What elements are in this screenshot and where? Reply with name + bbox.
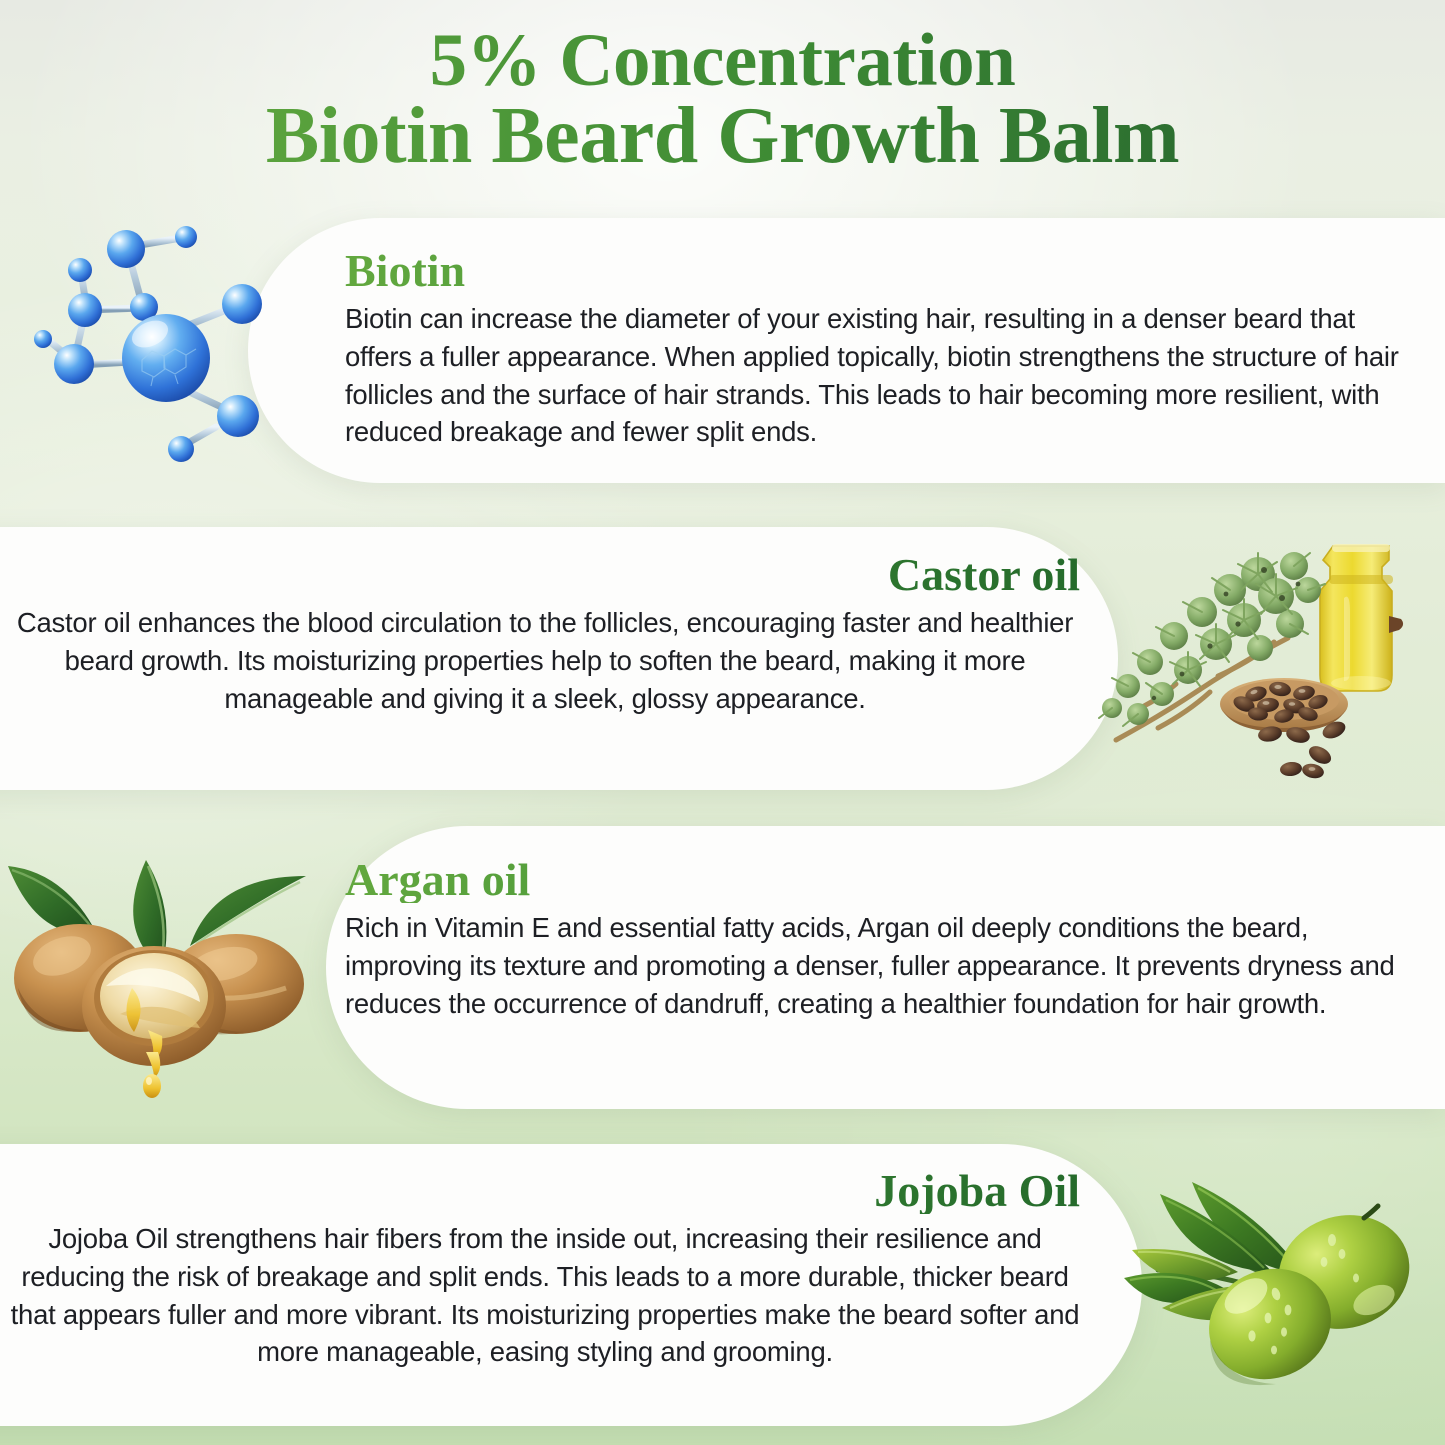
heading-argan-oil: Argan oil: [345, 857, 1405, 903]
section-biotin: Biotin Biotin can increase the diameter …: [345, 248, 1420, 451]
section-argan-oil: Argan oil Rich in Vitamin E and essentia…: [345, 857, 1405, 1022]
molecule-icon: [18, 222, 298, 467]
title-line-2: Biotin Beard Growth Balm: [0, 95, 1445, 177]
body-jojoba-oil: Jojoba Oil strengthens hair fibers from …: [0, 1220, 1090, 1371]
page-title: 5% Concentration Biotin Beard Growth Bal…: [0, 22, 1445, 178]
body-castor-oil: Castor oil enhances the blood circulatio…: [0, 604, 1090, 717]
heading-castor-oil: Castor oil: [0, 552, 1090, 598]
section-jojoba-oil: Jojoba Oil Jojoba Oil strengthens hair f…: [0, 1168, 1090, 1371]
body-argan-oil: Rich in Vitamin E and essential fatty ac…: [345, 909, 1405, 1022]
heading-biotin: Biotin: [345, 248, 1420, 294]
section-castor-oil: Castor oil Castor oil enhances the blood…: [0, 552, 1090, 717]
castor-plant-icon: [1098, 528, 1445, 790]
argan-nuts-icon: [0, 838, 328, 1100]
product-infographic: 5% Concentration Biotin Beard Growth Bal…: [0, 0, 1445, 1445]
heading-jojoba-oil: Jojoba Oil: [0, 1168, 1090, 1214]
body-biotin: Biotin can increase the diameter of your…: [345, 300, 1420, 451]
title-line-1: 5% Concentration: [0, 22, 1445, 99]
olive-branch-icon: [1118, 1128, 1445, 1423]
